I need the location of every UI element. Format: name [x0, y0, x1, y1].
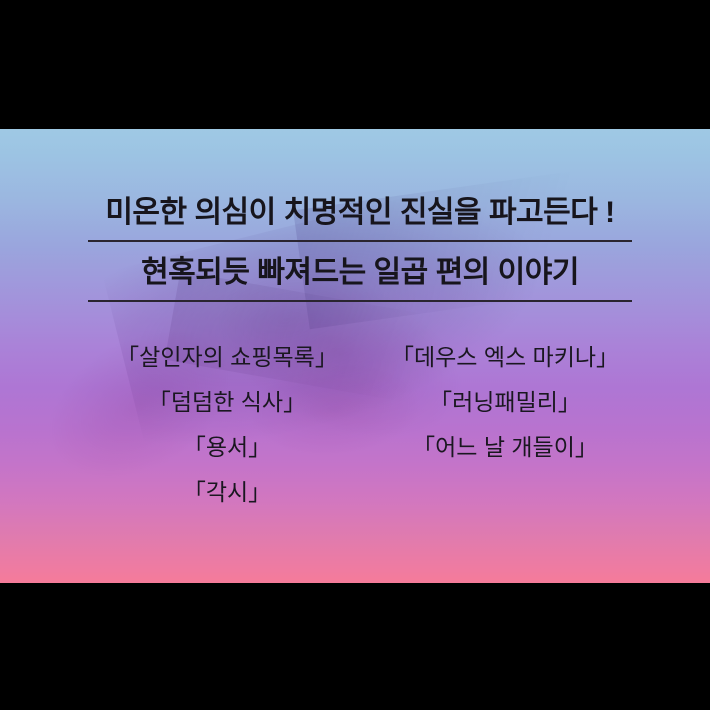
story-row: 「덤덤한 식사」 「러닝패밀리」: [88, 380, 644, 425]
headline-line-1: 미온한 의심이 치명적인 진실을 파고든다 !: [88, 191, 632, 242]
poster-frame: 미온한 의심이 치명적인 진실을 파고든다 ! 현혹되듯 빠져드는 일곱 편의 …: [0, 0, 710, 710]
gradient-artwork: 미온한 의심이 치명적인 진실을 파고든다 ! 현혹되듯 빠져드는 일곱 편의 …: [0, 129, 710, 583]
story-title: 「덤덤한 식사」: [88, 380, 366, 425]
story-row: 「용서」 「어느 날 개들이」: [88, 425, 644, 470]
headline-line-2: 현혹되듯 빠져드는 일곱 편의 이야기: [88, 251, 632, 302]
story-title: 「용서」: [88, 425, 366, 470]
story-row: 「살인자의 쇼핑목록」 「데우스 엑스 마키나」: [88, 335, 644, 380]
story-title: 「살인자의 쇼핑목록」: [88, 335, 366, 380]
story-title: 「데우스 엑스 마키나」: [366, 335, 644, 380]
headline-block: 미온한 의심이 치명적인 진실을 파고든다 ! 현혹되듯 빠져드는 일곱 편의 …: [88, 191, 632, 302]
story-title: 「러닝패밀리」: [366, 380, 644, 425]
story-title: 「어느 날 개들이」: [366, 425, 644, 470]
story-title-list: 「살인자의 쇼핑목록」 「데우스 엑스 마키나」 「덤덤한 식사」 「러닝패밀리…: [88, 335, 644, 515]
letterbox-bar-top: [0, 0, 710, 129]
story-title: 「각시」: [88, 470, 366, 515]
letterbox-bar-bottom: [0, 583, 710, 710]
story-row: 「각시」: [88, 470, 644, 515]
